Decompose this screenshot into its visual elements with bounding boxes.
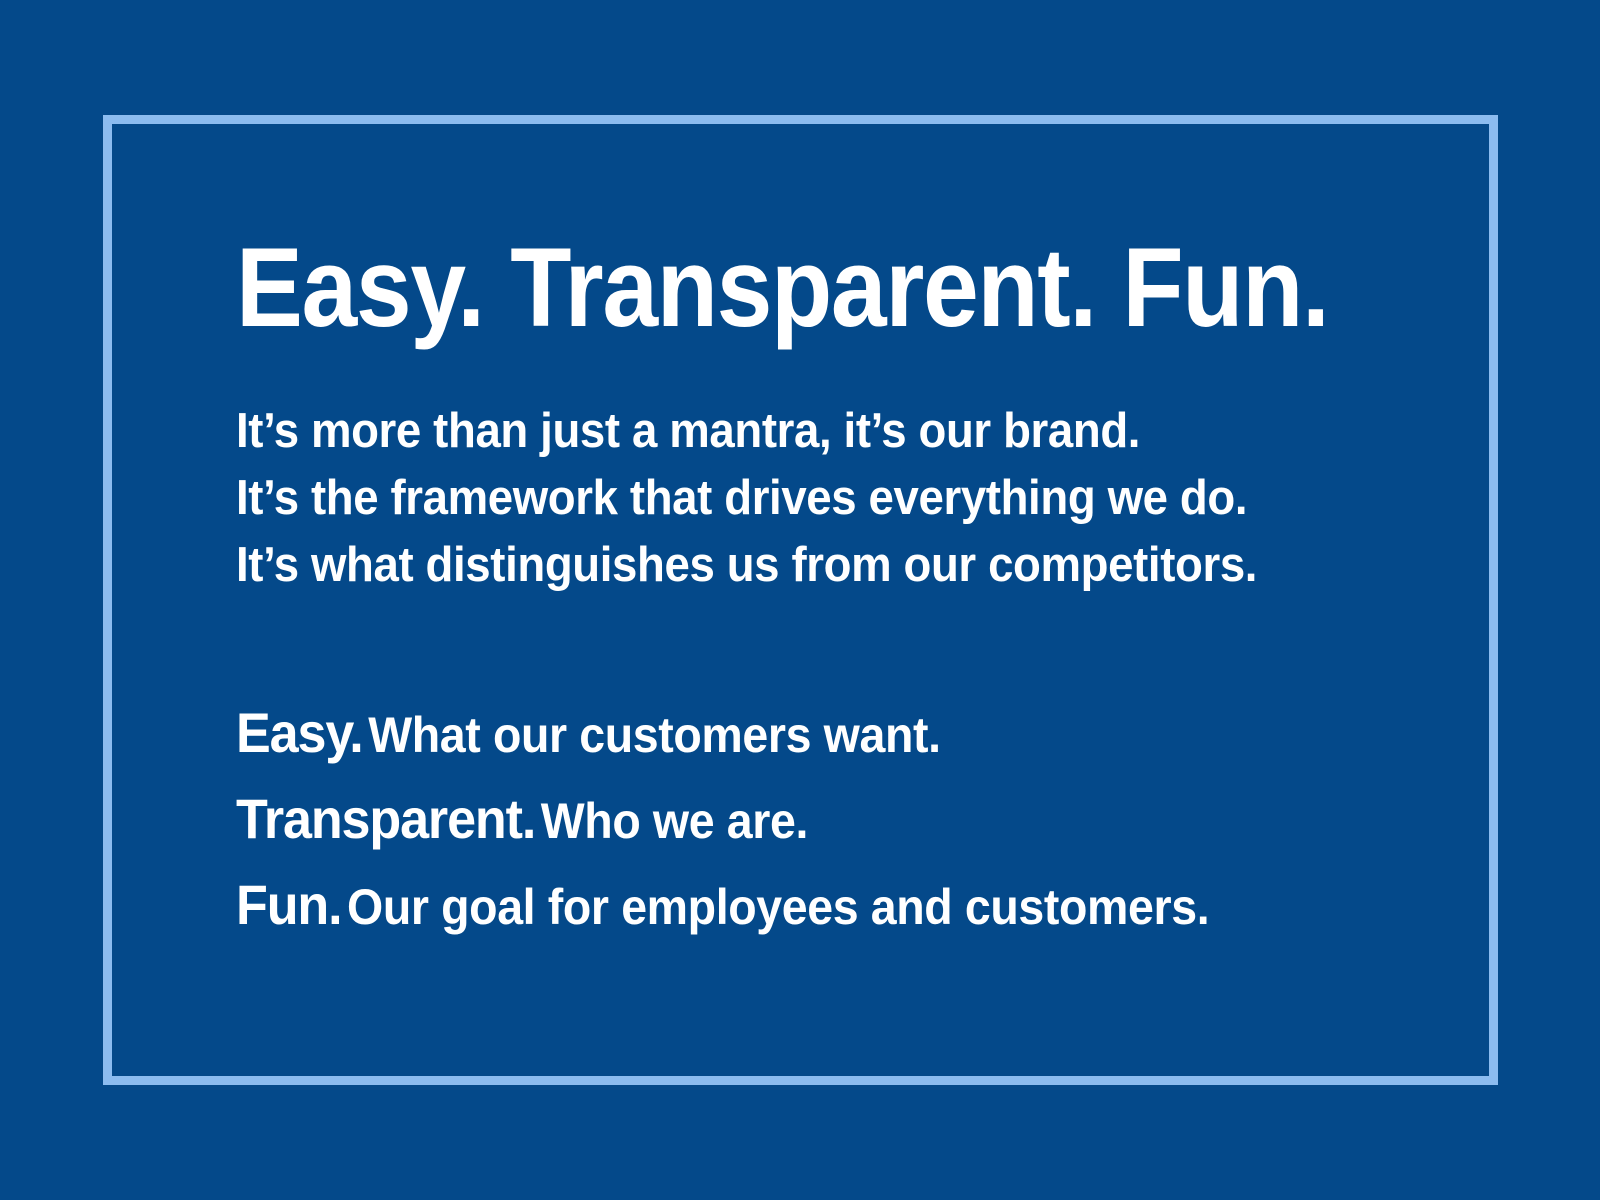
definition-list: Easy.What our customers want. Transparen… [236, 691, 1296, 949]
intro-paragraph: It’s more than just a mantra, it’s our b… [236, 398, 1296, 599]
definition-term: Transparent. [236, 787, 535, 850]
intro-paragraph-line: It’s what distinguishes us from our comp… [236, 532, 1296, 599]
slide-headline: Easy. Transparent. Fun. [236, 236, 1256, 340]
definition-description: What our customers want. [368, 707, 940, 763]
definition-description: Our goal for employees and customers. [347, 879, 1209, 935]
definition-item: Transparent.Who we are. [236, 777, 1296, 863]
intro-paragraph-line: It’s the framework that drives everythin… [236, 465, 1296, 532]
definition-description: Who we are. [541, 793, 808, 849]
intro-paragraph-line: It’s more than just a mantra, it’s our b… [236, 398, 1296, 465]
definition-term: Fun. [236, 873, 341, 936]
definition-item: Easy.What our customers want. [236, 691, 1296, 777]
definition-item: Fun.Our goal for employees and customers… [236, 863, 1296, 949]
brand-mantra-slide: Easy. Transparent. Fun. It’s more than j… [0, 0, 1600, 1200]
definition-term: Easy. [236, 701, 363, 764]
slide-content: Easy. Transparent. Fun. It’s more than j… [236, 236, 1376, 949]
